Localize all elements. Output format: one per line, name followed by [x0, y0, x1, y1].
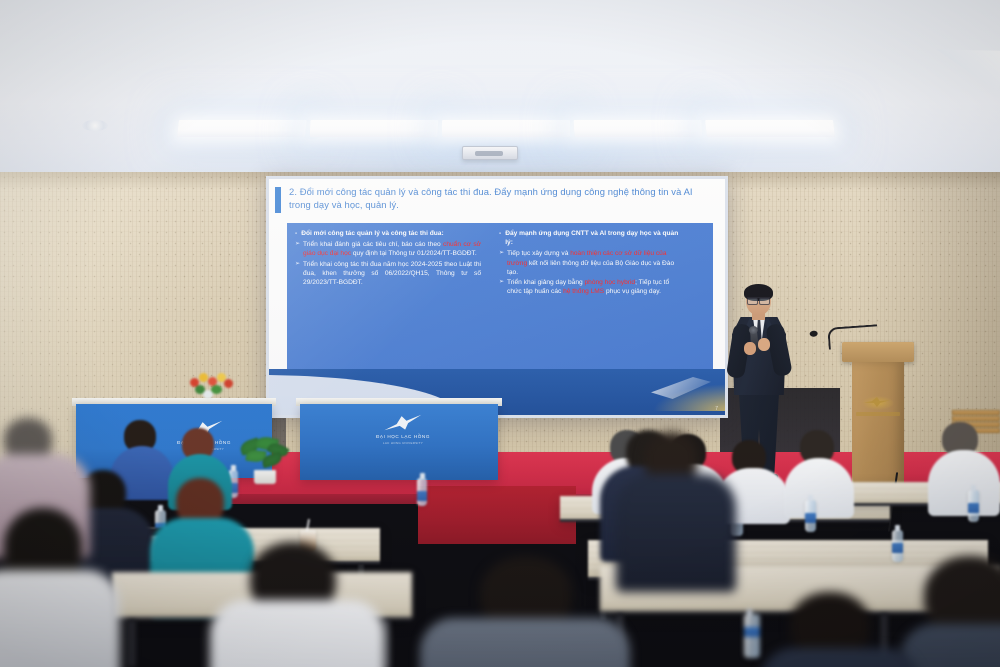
ceiling-smoke-detector — [82, 120, 108, 131]
dash-marker: - — [499, 229, 501, 247]
text-after-2: phục vụ giảng dạy. — [604, 288, 661, 295]
right-bullet-1: ➢ Tiếp tục xây dựng và hoàn thiện các cơ… — [499, 249, 685, 277]
ceiling-led-panel — [177, 120, 307, 137]
ceiling-led-panel — [442, 120, 570, 137]
water-bottle — [805, 500, 816, 532]
lectern-emblem-text — [856, 412, 900, 416]
audience-member — [616, 432, 736, 582]
left-bullet-1-text: Triển khai đánh giá các tiêu chí, báo cá… — [303, 240, 481, 258]
text-after: quy định tại Thông tư 01/2024/TT-BGDĐT. — [351, 250, 477, 257]
audience-member — [210, 542, 385, 667]
water-bottle — [744, 614, 760, 658]
university-tagline: LAC HONG UNIVERSITY — [360, 441, 446, 445]
bird-logo-icon — [382, 410, 424, 436]
ceiling-projector — [462, 146, 518, 160]
arrow-marker: ➢ — [295, 260, 300, 288]
text-before: Tiếp tục xây dựng và — [507, 250, 570, 257]
glasses-icon — [747, 297, 770, 302]
text-before: Triển khai đánh giá các tiêu chí, báo cá… — [303, 241, 443, 248]
right-bullet-2-text: Triển khai giảng dạy bằng phòng học hybr… — [507, 278, 685, 296]
audience-member — [420, 556, 630, 667]
highlighted-term: phòng học hybrid — [585, 279, 636, 286]
right-column-heading-row: - Đẩy mạnh ứng dụng CNTT và AI trong dạy… — [499, 229, 685, 247]
text-after: kết nối liên thông dữ liệu của Bộ Giáo d… — [507, 260, 674, 276]
plant-pot — [254, 470, 276, 484]
lectern-top — [842, 342, 914, 362]
stage-ramp — [418, 486, 576, 544]
left-column-heading: Đổi mới công tác quản lý và công tác thi… — [301, 229, 443, 238]
arrow-marker: ➢ — [499, 249, 504, 277]
audience-member — [784, 430, 854, 512]
water-bottle — [968, 490, 979, 522]
water-bottle — [417, 478, 427, 506]
left-bullet-2-text: Triển khai công tác thi đua năm học 2024… — [303, 260, 481, 288]
lectern-body — [852, 362, 904, 490]
left-column-heading-row: - Đổi mới công tác quản lý và công tác t… — [295, 229, 481, 238]
left-bullet-2: ➢ Triển khai công tác thi đua năm học 20… — [295, 260, 481, 288]
slide-right-column: - Đẩy mạnh ứng dụng CNTT và AI trong dạy… — [499, 229, 685, 297]
audience-member — [0, 508, 120, 667]
projection-screen: 2. Đổi mới công tác quản lý và công tác … — [266, 176, 728, 418]
presenter-hand — [744, 342, 756, 355]
slide-content-panel: - Đổi mới công tác quản lý và công tác t… — [287, 223, 713, 375]
footer-gold-swoosh — [585, 365, 725, 411]
arrow-marker: ➢ — [499, 278, 504, 296]
left-bullet-1: ➢ Triển khai đánh giá các tiêu chí, báo … — [295, 240, 481, 258]
flower-arrangement — [186, 370, 238, 404]
audience-member — [760, 592, 920, 667]
highlighted-term-2: hệ thống LMS — [563, 288, 604, 295]
head-table-right: ĐẠI HỌC LẠC HỒNG LAC HONG UNIVERSITY — [300, 404, 498, 480]
slide-title: 2. Đổi mới công tác quản lý và công tác … — [289, 185, 709, 211]
ceiling-led-panel — [574, 120, 703, 137]
right-bullet-1-text: Tiếp tục xây dựng và hoàn thiện các cơ s… — [507, 249, 685, 277]
right-bullet-2: ➢ Triển khai giảng dạy bằng phòng học hy… — [499, 278, 685, 296]
university-name: ĐẠI HỌC LẠC HỒNG — [360, 434, 446, 439]
conference-hall-photo: 2. Đổi mới công tác quản lý và công tác … — [0, 0, 1000, 667]
audience-member — [928, 422, 1000, 510]
arrow-marker: ➢ — [295, 240, 300, 258]
ceiling-led-panel — [310, 120, 439, 137]
slide-left-column: - Đổi mới công tác quản lý và công tác t… — [295, 229, 481, 288]
potted-plant — [236, 436, 294, 484]
table-leg — [128, 620, 136, 667]
ceiling-vent-icon — [930, 24, 1000, 92]
ceiling — [0, 0, 1000, 178]
presenter-hand — [758, 338, 770, 351]
title-accent-bar — [275, 187, 281, 213]
slide-title-bar: 2. Đổi mới công tác quản lý và công tác … — [269, 179, 725, 221]
dash-marker: - — [295, 229, 297, 238]
text-before: Triển khai giảng dạy bằng — [507, 279, 584, 286]
university-logo-2: ĐẠI HỌC LẠC HỒNG LAC HONG UNIVERSITY — [360, 416, 446, 456]
ceiling-led-panel — [705, 120, 835, 137]
presentation-slide: 2. Đổi mới công tác quản lý và công tác … — [269, 179, 725, 415]
right-column-heading: Đẩy mạnh ứng dụng CNTT và AI trong dạy h… — [505, 229, 685, 247]
